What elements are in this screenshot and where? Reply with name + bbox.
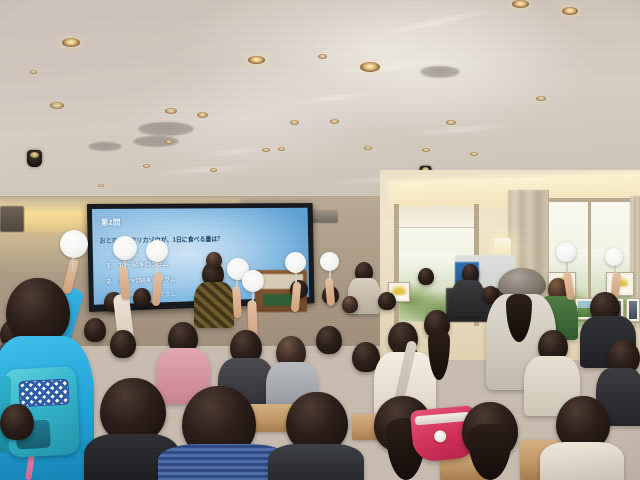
audience-member — [540, 442, 624, 480]
head — [418, 268, 434, 285]
ceiling-vent — [420, 66, 460, 78]
head — [110, 330, 136, 358]
raised-hand — [232, 286, 242, 318]
recessed-downlight — [278, 147, 285, 151]
recessed-downlight — [290, 120, 299, 125]
recessed-downlight — [248, 56, 265, 64]
window-frame — [548, 198, 640, 202]
recessed-downlight — [446, 120, 456, 125]
recessed-downlight — [512, 0, 529, 8]
audience-member — [452, 280, 484, 316]
recessed-downlight — [62, 38, 80, 47]
recessed-downlight — [197, 112, 208, 118]
recessed-downlight — [330, 119, 339, 124]
photo-scene: 第2問 おとなのアフリカゾウが、1日に食べる量は？ 1. 10〜50キログラム … — [0, 0, 640, 480]
answer-paddle — [146, 240, 168, 262]
answer-paddle — [60, 230, 88, 258]
recessed-downlight — [30, 70, 37, 74]
recessed-downlight — [50, 102, 64, 109]
recessed-downlight — [143, 164, 150, 168]
window-frame — [394, 204, 399, 326]
head — [6, 278, 70, 344]
recessed-downlight — [262, 148, 270, 152]
head — [84, 318, 106, 342]
head — [342, 296, 358, 313]
recessed-downlight — [98, 184, 104, 187]
ceiling-vent — [138, 122, 194, 136]
head — [0, 404, 34, 440]
wall-speaker — [0, 206, 24, 232]
ceiling-projector — [27, 150, 42, 167]
answer-paddle — [242, 270, 264, 292]
recessed-downlight — [318, 54, 327, 59]
head — [100, 378, 166, 442]
answer-paddle — [556, 242, 576, 262]
presenter — [194, 282, 234, 328]
answer-paddle — [320, 252, 339, 271]
bag-charm — [434, 430, 447, 443]
recessed-downlight — [562, 7, 578, 15]
answer-paddle — [113, 236, 137, 260]
recessed-downlight — [470, 152, 478, 156]
ceiling-vent — [88, 142, 122, 151]
audience-member — [268, 444, 364, 480]
answer-paddle — [605, 248, 623, 266]
recessed-downlight — [165, 140, 173, 144]
slide-header: 第2問 — [101, 217, 121, 228]
recessed-downlight — [422, 148, 430, 152]
recessed-downlight — [360, 62, 380, 72]
head — [378, 292, 396, 310]
head — [133, 288, 151, 307]
recessed-downlight — [536, 96, 546, 101]
backpack-panel — [18, 379, 69, 408]
recessed-downlight — [165, 108, 177, 114]
head — [206, 252, 222, 268]
head — [286, 392, 348, 452]
roller-blind — [398, 206, 478, 228]
recessed-downlight — [210, 168, 217, 172]
recessed-downlight — [364, 146, 372, 150]
answer-paddle — [285, 252, 306, 273]
head — [316, 326, 342, 354]
